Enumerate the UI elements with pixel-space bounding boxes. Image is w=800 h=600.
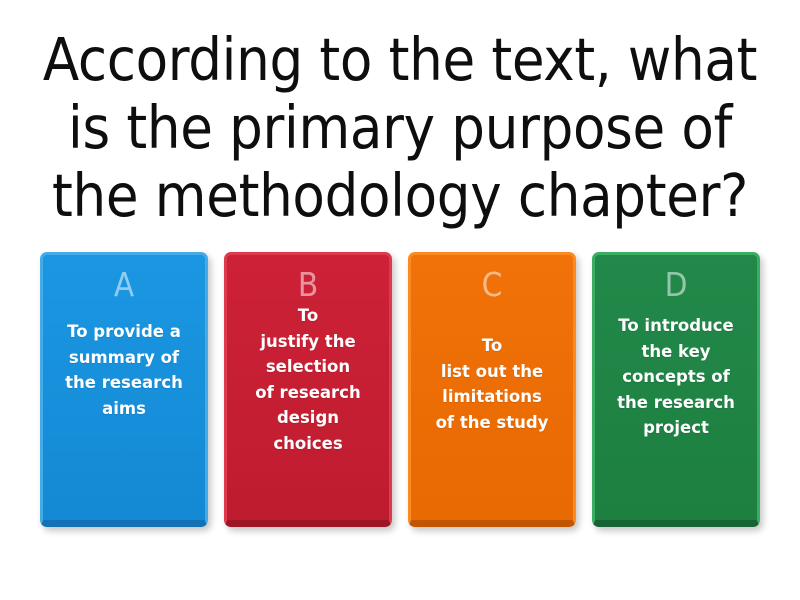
answer-text-a: To provide a summary of the research aim… (51, 319, 197, 421)
answer-letter-c: C (482, 268, 503, 301)
answer-letter-d: D (665, 268, 688, 301)
answer-option-b[interactable]: B To justify the selection of research d… (224, 252, 392, 527)
answer-option-d[interactable]: D To introduce the key concepts of the r… (592, 252, 760, 527)
question-text: According to the text, what is the prima… (43, 26, 757, 230)
answer-text-c: To list out the limitations of the study (419, 333, 565, 435)
question-area: According to the text, what is the prima… (0, 0, 800, 252)
answer-option-c[interactable]: C To list out the limitations of the stu… (408, 252, 576, 527)
answer-body-c: To list out the limitations of the study (411, 303, 573, 520)
answer-option-a[interactable]: A To provide a summary of the research a… (40, 252, 208, 527)
answer-body-d: To introduce the key concepts of the res… (595, 303, 757, 520)
answer-letter-b: B (298, 268, 318, 301)
answer-letter-a: A (114, 268, 134, 301)
answer-text-d: To introduce the key concepts of the res… (603, 313, 749, 441)
answer-body-b: To justify the selection of research des… (227, 303, 389, 520)
answer-body-a: To provide a summary of the research aim… (43, 303, 205, 520)
answer-text-b: To justify the selection of research des… (235, 303, 381, 456)
quiz-slide: According to the text, what is the prima… (0, 0, 800, 600)
answer-options-row: A To provide a summary of the research a… (0, 252, 800, 600)
